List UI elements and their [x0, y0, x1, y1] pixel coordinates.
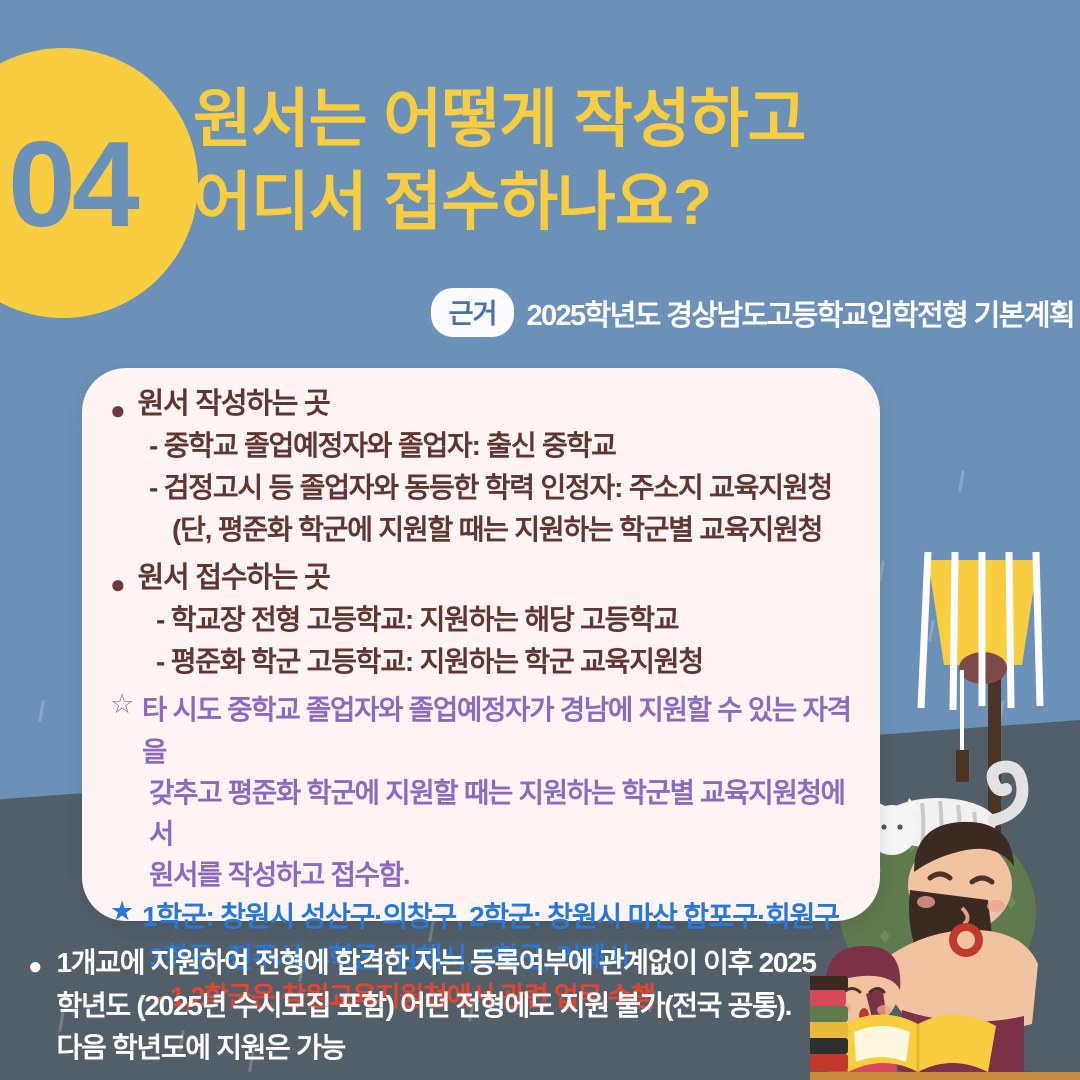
filled-star-note-line-1: ★ 1학군: 창원시 성산구·의창구, 2학군: 창원시 마산 합포구·회원구 [110, 896, 862, 937]
section1-line-3: (단, 평준화 학군에 지원할 때는 지원하는 학군별 교육지원청 [110, 509, 862, 551]
section1-line-2-text: - 검정고시 등 졸업자와 동등한 학력 인정자: 주소지 교육지원청 [149, 467, 832, 509]
section2-heading: 원서 접수하는 곳 [138, 558, 330, 599]
section2-line-2-text: - 평준화 학군 고등학교: 지원하는 학군 교육지원청 [156, 641, 703, 683]
bullet-icon: ● [110, 571, 125, 597]
footer-note: ● 1개교에 지원하여 전형에 합격한 자는 등록여부에 관계없이 이후 202… [28, 942, 818, 1070]
basis-source-text: 2025학년도 경상남도고등학교입학전형 기본계획 [526, 292, 1074, 334]
outline-star-note-line-1: ☆ 타 시도 중학교 졸업자와 졸업예정자가 경남에 지원할 수 있는 자격을 [110, 689, 862, 772]
basis-strip: 근거 2025학년도 경상남도고등학교입학전형 기본계획 [431, 288, 1074, 337]
outline-star-note-text-1: 타 시도 중학교 졸업자와 졸업예정자가 경남에 지원할 수 있는 자격을 [142, 689, 862, 772]
outline-star-note-text-3: 원서를 작성하고 접수함. [149, 854, 409, 895]
section2-line-2: - 평준화 학군 고등학교: 지원하는 학군 교육지원청 [110, 641, 862, 683]
section1-line-1: - 중학교 졸업예정자와 졸업자: 출신 중학교 [110, 425, 862, 467]
section1-heading: 원서 작성하는 곳 [138, 384, 330, 425]
section1-heading-row: ● 원서 작성하는 곳 [110, 384, 862, 425]
bullet-icon: ● [110, 397, 125, 423]
outline-star-note-text-2: 갖추고 평준화 학군에 지원할 때는 지원하는 학군별 교육지원청에서 [149, 772, 862, 855]
star-outline-icon: ☆ [110, 689, 133, 720]
section2-heading-row: ● 원서 접수하는 곳 [110, 558, 862, 599]
section1-line-2: - 검정고시 등 졸업자와 동등한 학력 인정자: 주소지 교육지원청 [110, 467, 862, 509]
section1-line-3-text: (단, 평준화 학군에 지원할 때는 지원하는 학군별 교육지원청 [172, 509, 822, 551]
outline-star-note-line-3: 원서를 작성하고 접수함. [110, 854, 862, 895]
content-card: ● 원서 작성하는 곳 - 중학교 졸업예정자와 졸업자: 출신 중학교 - 검… [82, 368, 880, 921]
section-number: 04 [8, 123, 136, 245]
star-filled-icon: ★ [110, 896, 133, 927]
poster-root: 04 원서는 어떻게 작성하고 어디서 접수하나요? 근거 2025학년도 경상… [0, 0, 1080, 1080]
bullet-icon: ● [28, 955, 43, 979]
basis-label-pill: 근거 [431, 288, 515, 337]
outline-star-note-line-2: 갖추고 평준화 학군에 지원할 때는 지원하는 학군별 교육지원청에서 [110, 772, 862, 855]
page-title: 원서는 어떻게 작성하고 어디서 접수하나요? [193, 78, 1053, 244]
footer-note-text: 1개교에 지원하여 전형에 합격한 자는 등록여부에 관계없이 이후 2025 … [57, 942, 819, 1070]
filled-star-note-text-1: 1학군: 창원시 성산구·의창구, 2학군: 창원시 마산 합포구·회원구 [142, 896, 839, 937]
section2-line-1: - 학교장 전형 고등학교: 지원하는 해당 고등학교 [110, 599, 862, 641]
section1-line-1-text: - 중학교 졸업예정자와 졸업자: 출신 중학교 [149, 425, 616, 467]
section2-line-1-text: - 학교장 전형 고등학교: 지원하는 해당 고등학교 [156, 599, 678, 641]
